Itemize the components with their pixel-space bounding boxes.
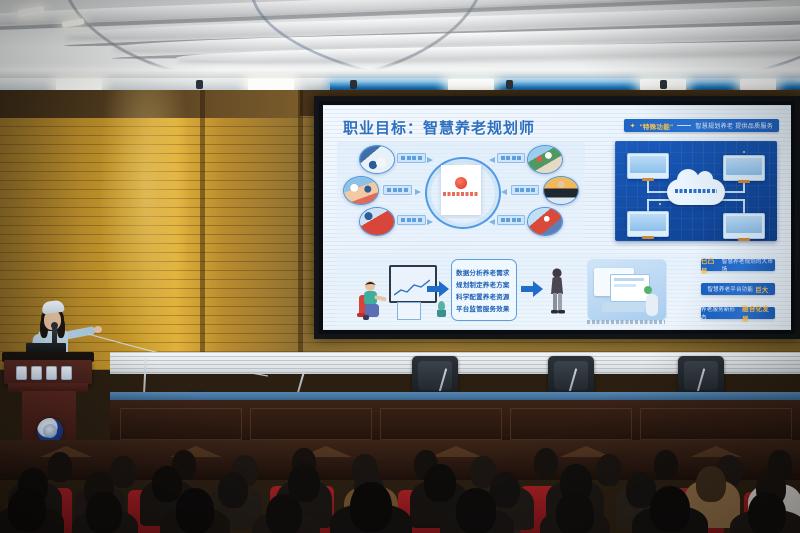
node-label	[497, 153, 526, 163]
node-label	[397, 215, 426, 225]
downlight	[448, 79, 494, 90]
diagram-node[interactable]	[527, 207, 563, 236]
center-label	[443, 192, 479, 196]
cloud-platform-label	[675, 189, 717, 193]
highlight-bar[interactable]: 智慧养老平台功能 巨大	[701, 283, 775, 295]
podium-button[interactable]	[61, 366, 72, 380]
ribbon-dash	[677, 125, 691, 126]
podium-button[interactable]	[46, 366, 57, 380]
terminal-monitor[interactable]	[627, 211, 669, 237]
right-arrow-icon	[427, 281, 449, 297]
attendee-head	[654, 450, 678, 480]
bar-highlight: 巨大	[755, 284, 768, 294]
attendee-head	[556, 492, 594, 533]
ceiling-speaker	[196, 80, 203, 89]
podium-button[interactable]	[31, 366, 42, 380]
bar-highlight: 已凸显	[701, 255, 720, 275]
attendee-head	[218, 472, 248, 508]
diagram-node[interactable]	[359, 207, 395, 236]
analyst-at-computer-icon	[355, 263, 433, 321]
smart-device-photo-icon	[587, 259, 667, 321]
center-seal-icon	[455, 177, 467, 189]
connector-arrow-icon	[489, 219, 495, 225]
node-label	[497, 215, 526, 225]
wall-light-glow	[100, 90, 190, 370]
node-label	[397, 153, 426, 163]
device-caption	[587, 320, 665, 324]
elderly-walking-icon	[547, 267, 567, 317]
slide-canvas: 职业目标：智慧养老规划师 ✦ "特殊功能" 智慧规划养老 提供品质服务	[323, 105, 791, 330]
connector-arrow-icon	[427, 219, 433, 225]
center-card	[441, 165, 481, 215]
bar-text: 智慧养老平台功能	[707, 285, 753, 293]
slide-ribbon-banner: ✦ "特殊功能" 智慧规划养老 提供品质服务	[624, 119, 779, 132]
downlight	[248, 79, 294, 90]
attendee-head	[350, 482, 392, 532]
attendee-head	[456, 488, 496, 533]
ribbon-keyword: "特殊功能"	[639, 121, 673, 131]
attendee-head	[596, 454, 622, 486]
slide-title: 职业目标：智慧养老规划师	[343, 117, 535, 138]
connector-arrow-icon	[427, 157, 433, 163]
ceiling-speaker	[660, 80, 667, 89]
podium-control-buttons[interactable]	[16, 366, 72, 380]
connector-arrow-icon	[501, 189, 507, 195]
plant-icon	[437, 301, 446, 317]
highlight-bar[interactable]: 已凸显 智慧养老规划的大市场	[701, 259, 775, 271]
key-points-box: 数据分析养老需求 规划制定养老方案 科学配置养老资源 平台监管服务效果	[451, 259, 517, 321]
blue-led-strip	[330, 82, 800, 90]
diagram-node[interactable]	[359, 145, 395, 174]
bar-highlight: 融合化发展	[742, 303, 775, 323]
radial-service-diagram	[337, 141, 585, 241]
cloud-network-panel	[615, 141, 777, 241]
wall-seam	[298, 90, 303, 370]
attendee-head	[534, 448, 558, 478]
node-label	[511, 185, 540, 195]
terminal-monitor[interactable]	[723, 155, 765, 181]
terminal-monitor[interactable]	[723, 213, 765, 239]
key-point: 数据分析养老需求	[456, 267, 512, 277]
secondary-panel	[397, 302, 421, 320]
attendee-head	[748, 492, 786, 533]
attendee-head	[86, 492, 122, 533]
diagram-node[interactable]	[543, 176, 579, 205]
trend-line-icon	[394, 279, 430, 297]
sparkle-icon: ✦	[630, 122, 636, 130]
connector-arrow-icon	[489, 157, 495, 163]
ribbon-subtitle: 智慧规划养老 提供品质服务	[695, 121, 773, 130]
downlight	[56, 79, 102, 90]
attendee-head	[152, 466, 182, 502]
diagram-node[interactable]	[343, 176, 379, 205]
attendee-head	[176, 488, 214, 533]
presidium-chair[interactable]	[412, 356, 458, 396]
bar-text: 智慧养老规划的大市场	[722, 257, 775, 273]
presentation-screen[interactable]: 职业目标：智慧养老规划师 ✦ "特殊功能" 智慧规划养老 提供品质服务	[314, 96, 800, 339]
attendee-head	[110, 456, 136, 488]
terminal-monitor[interactable]	[627, 153, 669, 179]
seated-person-icon	[357, 279, 391, 321]
ceiling-speaker	[350, 80, 357, 89]
podium-button[interactable]	[16, 366, 27, 380]
lecture-hall-photo: 职业目标：智慧养老规划师 ✦ "特殊功能" 智慧规划养老 提供品质服务	[0, 0, 800, 533]
ceiling	[0, 0, 800, 80]
audience	[0, 430, 800, 533]
key-point: 平台监管服务效果	[456, 303, 512, 313]
ceiling-speaker	[506, 80, 513, 89]
node-label	[383, 185, 412, 195]
downlight	[740, 79, 776, 90]
bar-text: 养老服务新形态	[701, 305, 740, 321]
highlight-bar[interactable]: 养老服务新形态 融合化发展	[701, 307, 775, 319]
attendee-head	[266, 494, 302, 533]
attendee-head	[8, 488, 46, 532]
key-point: 规划制定养老方案	[456, 279, 512, 289]
diagram-node[interactable]	[527, 145, 563, 174]
right-arrow-icon	[521, 281, 543, 297]
process-flow-band: 数据分析养老需求 规划制定养老方案 科学配置养老资源 平台监管服务效果	[335, 253, 779, 327]
attendee-head	[696, 466, 726, 502]
wall-seam	[200, 90, 205, 370]
attendee-head	[48, 452, 72, 482]
connector-arrow-icon	[415, 189, 421, 195]
key-point: 科学配置养老资源	[456, 291, 512, 301]
attendee-head	[424, 464, 456, 502]
attendee-head	[650, 486, 690, 532]
